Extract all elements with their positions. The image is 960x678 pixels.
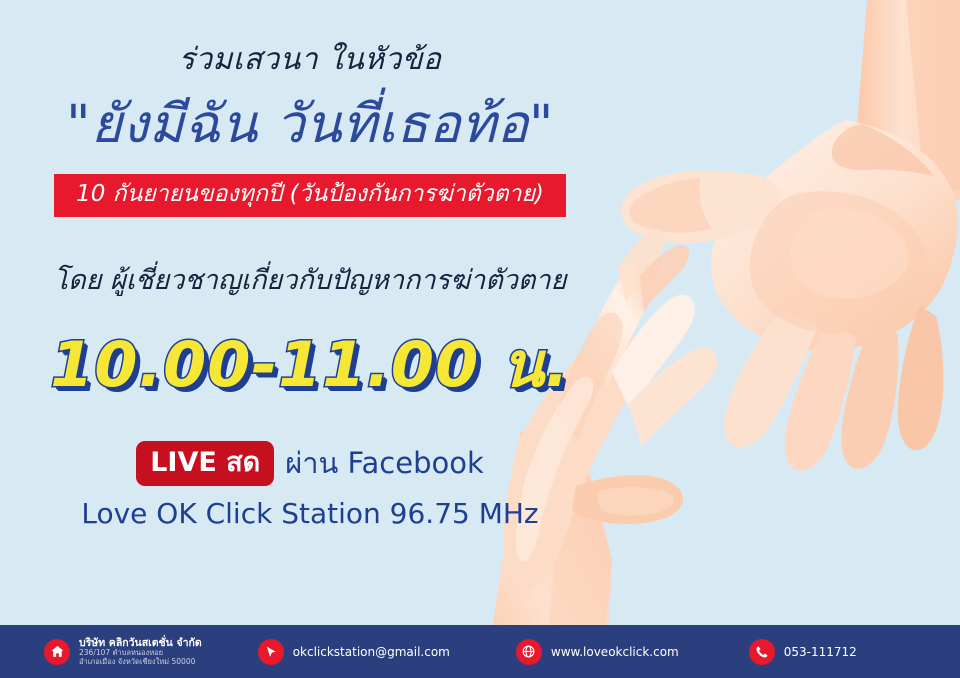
poster-content: ร่วมเสวนา ในหัวข้อ "ยังมีฉัน วันที่เธอท้… (0, 0, 620, 625)
live-channel-label: ผ่าน Facebook (285, 440, 484, 486)
upper-hand (621, 0, 960, 471)
contact-email[interactable]: okclickstation@gmail.com (258, 639, 450, 665)
date-banner-wrap: 10 กันยายนของทุกปี (วันป้องกันการฆ่าตัวต… (0, 174, 620, 217)
email-text: okclickstation@gmail.com (293, 645, 450, 659)
contact-phone[interactable]: 053-111712 (749, 639, 857, 665)
globe-icon (516, 639, 542, 665)
live-row: LIVE สด ผ่าน Facebook (0, 440, 620, 486)
intro-line: ร่วมเสวนา ในหัวข้อ (0, 36, 620, 83)
cursor-icon (258, 639, 284, 665)
contact-website[interactable]: www.loveokclick.com (516, 639, 679, 665)
contact-company: บริษัท คลิกวันสเตชั่น จำกัด 236/107 ตำบล… (44, 637, 202, 666)
station-label: Love OK Click Station 96.75 MHz (0, 497, 620, 530)
phone-icon (749, 639, 775, 665)
live-badge: LIVE สด (136, 441, 274, 486)
date-banner: 10 กันยายนของทุกปี (วันป้องกันการฆ่าตัวต… (54, 174, 566, 217)
footer-bar: บริษัท คลิกวันสเตชั่น จำกัด 236/107 ตำบล… (0, 625, 960, 678)
poster-root: ร่วมเสวนา ในหัวข้อ "ยังมีฉัน วันที่เธอท้… (0, 0, 960, 678)
home-icon (44, 639, 70, 665)
speaker-line: โดย ผู้เชี่ยวชาญเกี่ยวกับปัญหาการฆ่าตัวต… (0, 258, 620, 301)
upper-hand-small-fingers (618, 230, 689, 312)
broadcast-time: 10.00-11.00 น. (0, 316, 620, 414)
website-text: www.loveokclick.com (551, 645, 679, 659)
company-address-line-2: อำเภอเมือง จังหวัดเชียงใหม่ 50000 (79, 658, 202, 667)
page-title: "ยังมีฉัน วันที่เธอท้อ" (0, 92, 620, 158)
phone-text: 053-111712 (784, 645, 857, 659)
